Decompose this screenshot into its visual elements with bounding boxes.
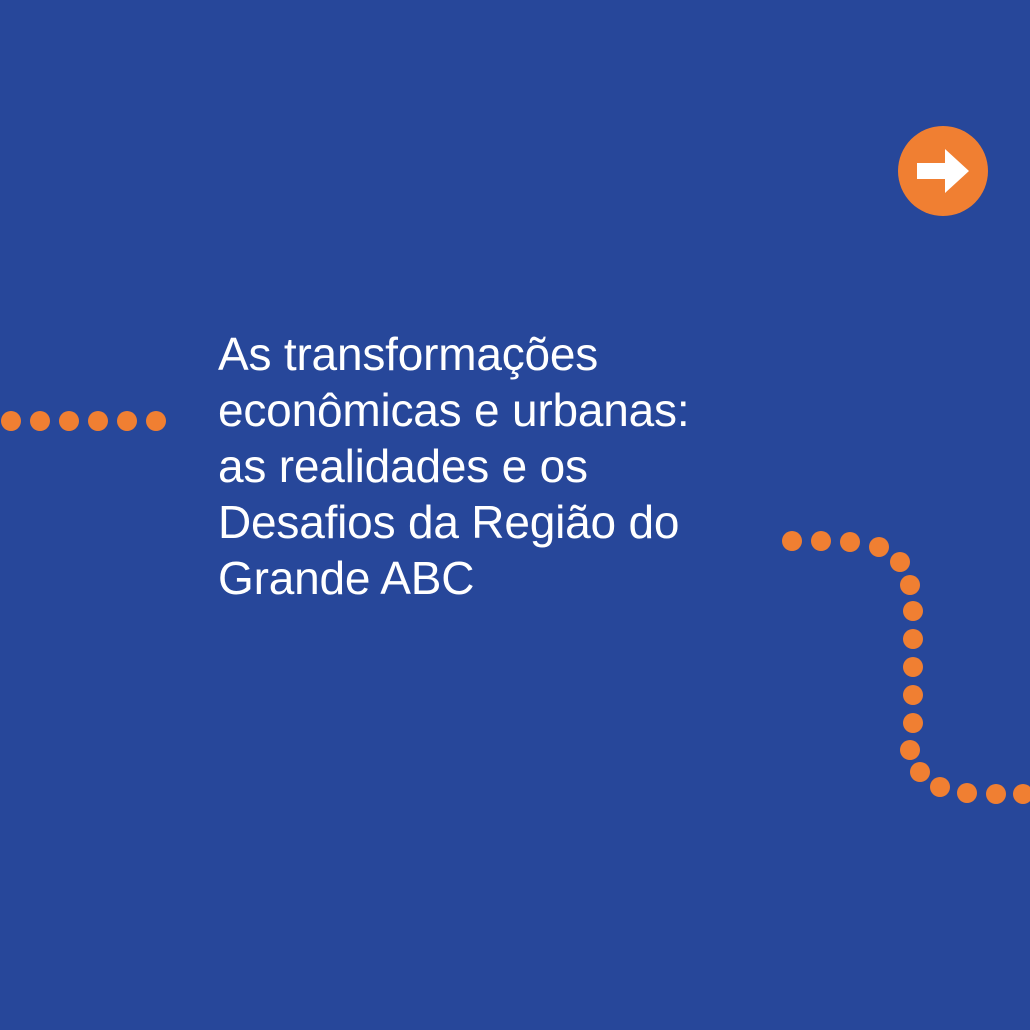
page-title: As transformações econômicas e urbanas: … xyxy=(218,326,778,606)
decorative-dot xyxy=(903,685,923,705)
decorative-dot xyxy=(986,784,1006,804)
decorative-dot xyxy=(1013,784,1030,804)
decorative-dot xyxy=(782,531,802,551)
slide-canvas: As transformações econômicas e urbanas: … xyxy=(0,0,1030,1030)
decorative-dot xyxy=(900,740,920,760)
arrow-right-icon xyxy=(917,149,969,193)
decorative-dot xyxy=(840,532,860,552)
decorative-dot xyxy=(903,629,923,649)
decorative-dot xyxy=(811,531,831,551)
next-arrow-button[interactable] xyxy=(898,126,988,216)
decorative-dot xyxy=(890,552,910,572)
decorative-dot xyxy=(903,601,923,621)
decorative-dot xyxy=(910,762,930,782)
decorative-dot xyxy=(869,537,889,557)
decorative-dot xyxy=(903,713,923,733)
decorative-dot xyxy=(900,575,920,595)
decorative-dot xyxy=(957,783,977,803)
decorative-dot xyxy=(903,657,923,677)
decorative-dot xyxy=(930,777,950,797)
